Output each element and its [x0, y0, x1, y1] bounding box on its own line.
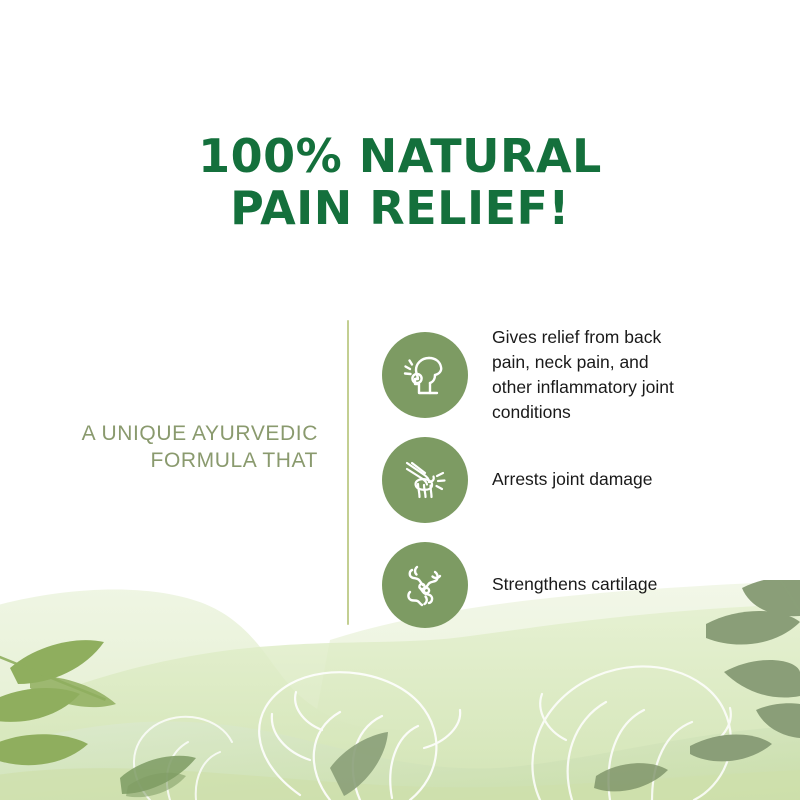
knee-joint-icon [382, 437, 468, 523]
vertical-divider [347, 320, 349, 625]
benefits-list: Gives relief from back pain, neck pain, … [382, 322, 782, 637]
title-line-1: 100% Natural [0, 130, 800, 182]
list-item-label: Arrests joint damage [492, 467, 653, 492]
head-neck-pain-icon [382, 332, 468, 418]
title-line-2: Pain Relief! [0, 182, 800, 234]
cartilage-icon [382, 542, 468, 628]
content-section: A unique ayurvedic formula that Gives re… [0, 310, 800, 630]
page-title: 100% Natural Pain Relief! [0, 130, 800, 234]
list-item: Gives relief from back pain, neck pain, … [382, 322, 782, 427]
list-item-label: Strengthens cartilage [492, 572, 657, 597]
list-item: Arrests joint damage [382, 427, 782, 532]
list-item-label: Gives relief from back pain, neck pain, … [492, 325, 682, 425]
list-item: Strengthens cartilage [382, 532, 782, 637]
lead-statement: A unique ayurvedic formula that [60, 420, 318, 474]
